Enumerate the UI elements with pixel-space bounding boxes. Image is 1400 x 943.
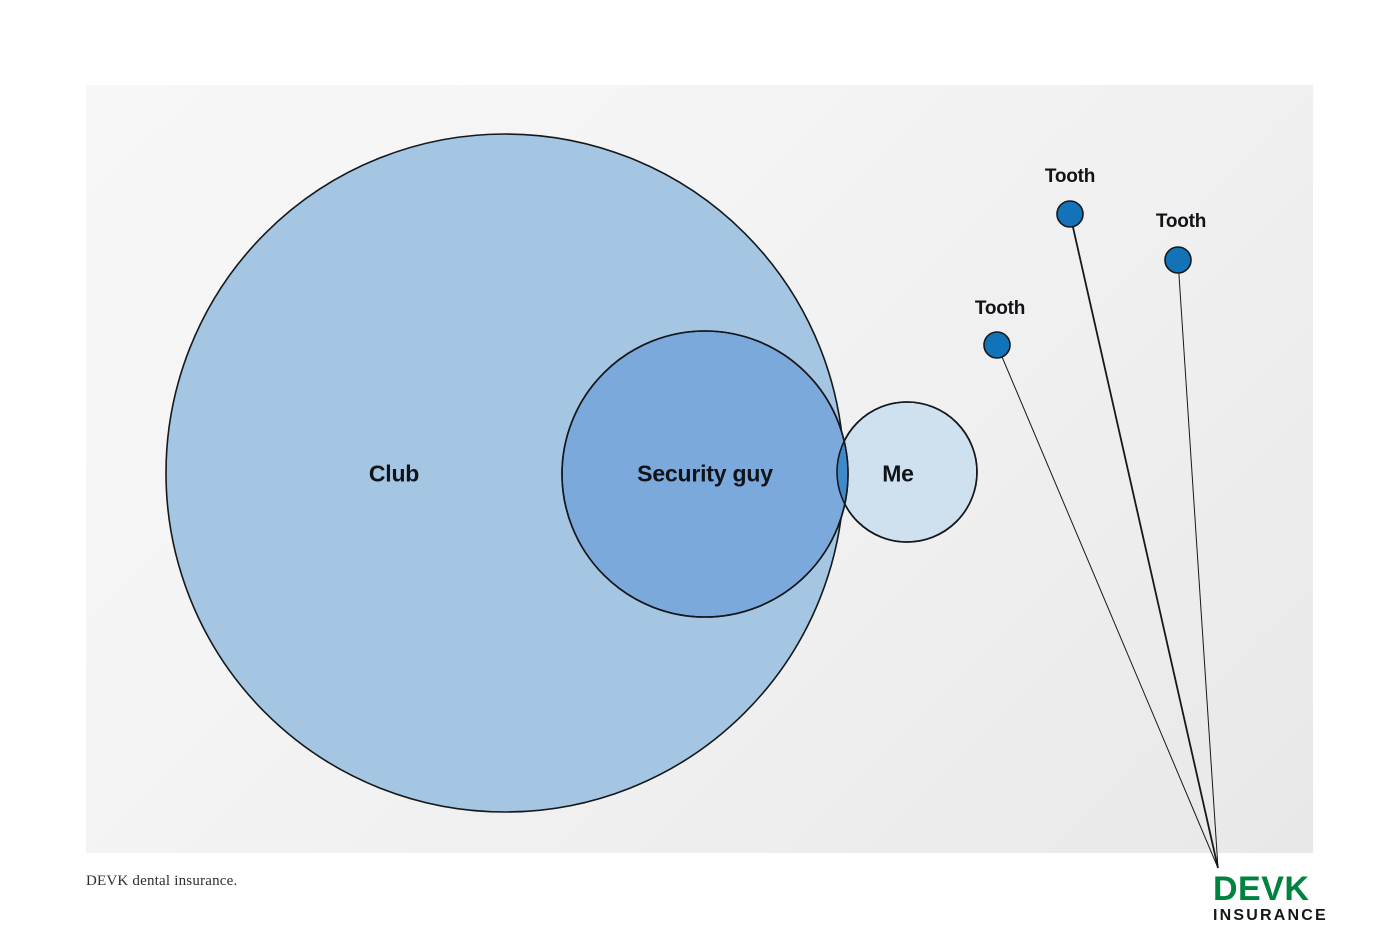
venn-label-me: Me <box>882 461 914 488</box>
brand-logo-subtitle: INSURANCE <box>1213 908 1328 924</box>
tagline: DEVK dental insurance. <box>86 873 237 890</box>
callout-label-tooth-3: Tooth <box>1156 211 1206 233</box>
advertisement-page: Club Security guy Me Tooth Tooth Tooth D… <box>0 0 1400 943</box>
venn-label-security-guy: Security guy <box>637 461 773 488</box>
callout-label-tooth-2: Tooth <box>1045 166 1095 188</box>
brand-logo[interactable]: DEVK INSURANCE <box>1213 872 1328 924</box>
callout-label-tooth-1: Tooth <box>975 298 1025 320</box>
venn-label-club: Club <box>369 461 419 488</box>
brand-logo-wordmark: DEVK <box>1213 872 1328 906</box>
